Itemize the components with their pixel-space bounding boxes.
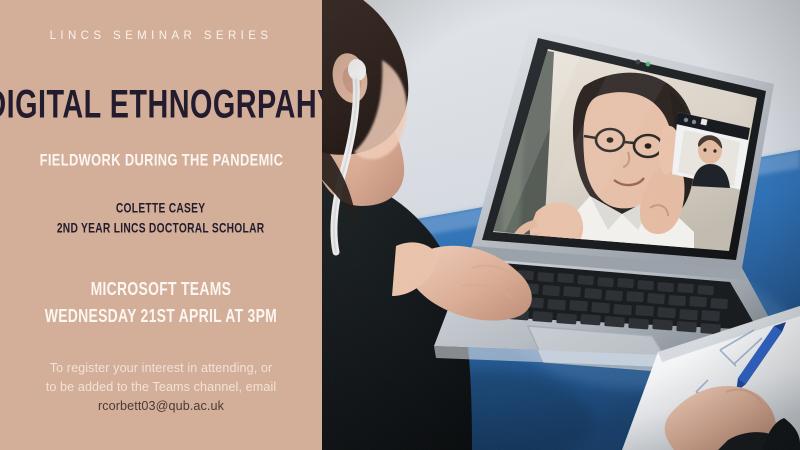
video-call-photo — [322, 0, 800, 450]
photo-illustration — [322, 0, 800, 450]
event-block: MICROSOFT TEAMS WEDNESDAY 21ST APRIL AT … — [36, 281, 286, 325]
page-subtitle: FIELDWORK DURING THE PANDEMIC — [39, 150, 283, 169]
speaker-block: COLETTE CASEY 2ND YEAR LINCS DOCTORAL SC… — [49, 203, 272, 235]
registration-line-1: To register your interest in attending, … — [31, 359, 291, 378]
speaker-name: COLETTE CASEY — [57, 202, 265, 217]
series-kicker: LINCS SEMINAR SERIES — [50, 30, 273, 42]
seminar-poster: LINCS SEMINAR SERIES DIGITAL ETHNOGRPAHY… — [0, 0, 800, 450]
page-title: DIGITAL ETHNOGRPAHY — [0, 86, 322, 126]
text-panel: LINCS SEMINAR SERIES DIGITAL ETHNOGRPAHY… — [0, 0, 322, 450]
speaker-role: 2ND YEAR LINCS DOCTORAL SCHOLAR — [57, 222, 265, 237]
registration-email[interactable]: rcorbett03@qub.ac.uk — [31, 397, 291, 416]
registration-block: To register your interest in attending, … — [31, 359, 291, 416]
event-datetime: WEDNESDAY 21ST APRIL AT 3PM — [45, 306, 277, 327]
event-platform: MICROSOFT TEAMS — [45, 279, 277, 300]
registration-line-2: to be added to the Teams channel, email — [31, 378, 291, 397]
